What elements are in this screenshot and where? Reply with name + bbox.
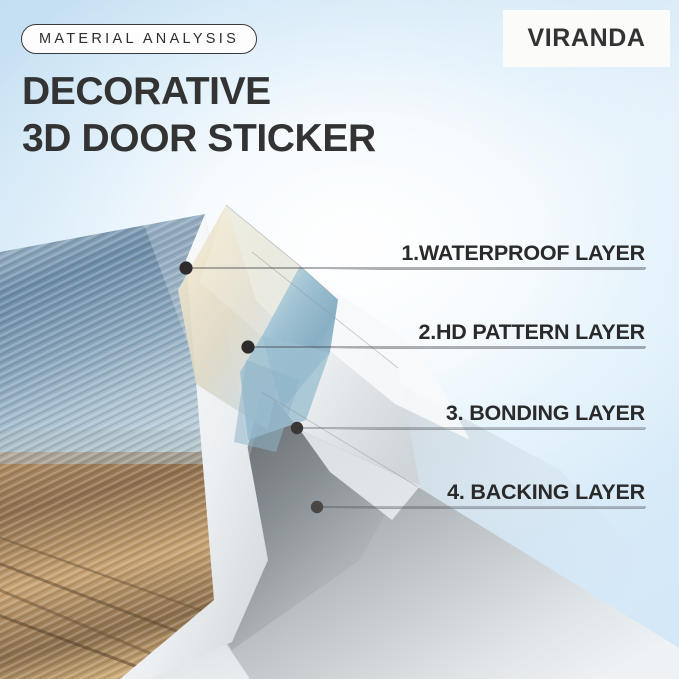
page-title-line2: 3D DOOR STICKER [22,115,376,162]
callout-backing-layer: 4. BACKING LAYER [325,480,645,509]
callout-dot-3-icon [291,422,303,434]
callout-label-2: 2.HD PATTERN LAYER [325,320,645,344]
page-title-line1: DECORATIVE [22,70,271,113]
callout-rule-2 [325,348,645,349]
callout-label-4: 4. BACKING LAYER [325,480,645,504]
callout-bonding-layer: 3. BONDING LAYER [325,401,645,430]
callout-label-3: 3. BONDING LAYER [325,401,645,425]
callout-rule-1 [325,269,645,270]
callout-label-1: 1.WATERPROOF LAYER [325,241,645,265]
callout-dot-2-icon [241,340,254,353]
callout-dot-1-icon [179,261,192,274]
brand-logo-label: VIRANDA [527,24,645,53]
eyebrow-label: MATERIAL ANALYSIS [39,31,239,47]
eyebrow-badge: MATERIAL ANALYSIS [21,24,257,54]
callout-dot-4-icon [311,501,323,513]
callout-waterproof-layer: 1.WATERPROOF LAYER [325,241,645,270]
callout-rule-3 [325,429,645,430]
infographic-canvas: MATERIAL ANALYSIS DECORATIVE 3D DOOR STI… [0,0,679,679]
callout-hd-pattern-layer: 2.HD PATTERN LAYER [325,320,645,349]
page-title: DECORATIVE 3D DOOR STICKER [22,68,376,162]
brand-logo: VIRANDA [503,10,670,67]
callout-rule-4 [325,508,645,509]
